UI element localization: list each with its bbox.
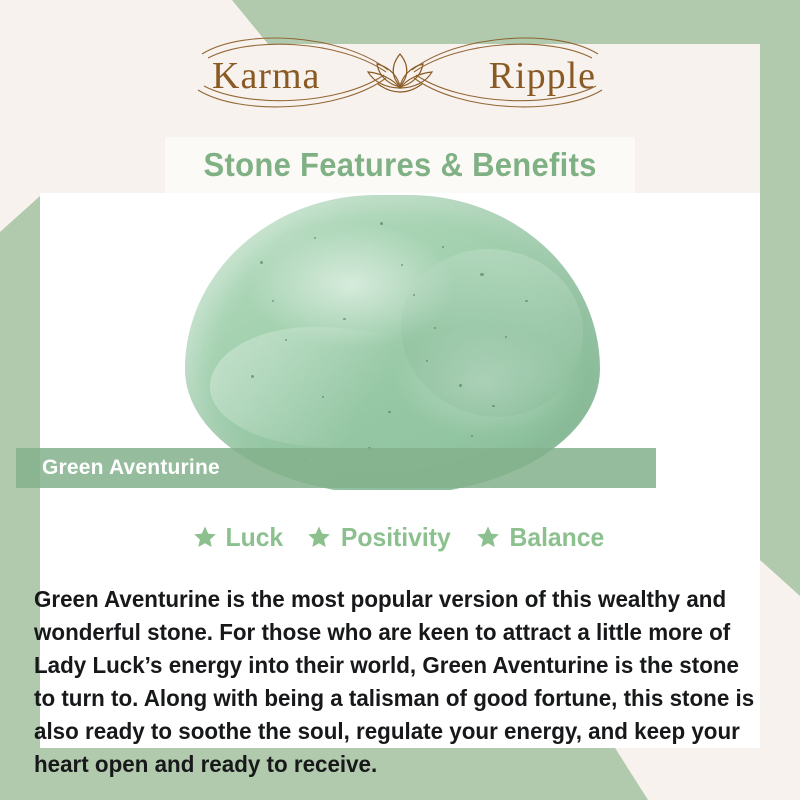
benefit-item: Positivity <box>307 522 454 553</box>
benefit-item: Balance <box>476 522 607 553</box>
stone-name: Green Aventurine <box>42 456 220 480</box>
brand-logo-inner: Karma Ripple <box>180 28 620 114</box>
star-icon <box>307 525 331 549</box>
star-icon <box>476 525 500 549</box>
benefit-label: Balance <box>509 522 604 553</box>
benefit-label: Positivity <box>341 522 451 553</box>
brand-name-left: Karma <box>212 54 320 98</box>
stone-name-band: Green Aventurine <box>16 448 656 488</box>
section-title-banner: Stone Features & Benefits <box>165 137 635 193</box>
lotus-icon <box>368 54 432 92</box>
brand-logo: Karma Ripple <box>0 28 800 114</box>
section-title: Stone Features & Benefits <box>203 146 596 184</box>
benefit-item: Luck <box>193 522 285 553</box>
stone-description: Green Aventurine is the most popular ver… <box>34 583 760 781</box>
stone-shape <box>185 195 600 490</box>
benefit-label: Luck <box>226 522 284 553</box>
brand-name-right: Ripple <box>489 54 596 98</box>
product-info-poster: Karma Ripple Stone Features & Benefits <box>0 0 800 800</box>
benefits-row: Luck Positivity Balance <box>40 516 760 558</box>
stone-photo <box>40 193 760 490</box>
star-icon <box>193 525 217 549</box>
